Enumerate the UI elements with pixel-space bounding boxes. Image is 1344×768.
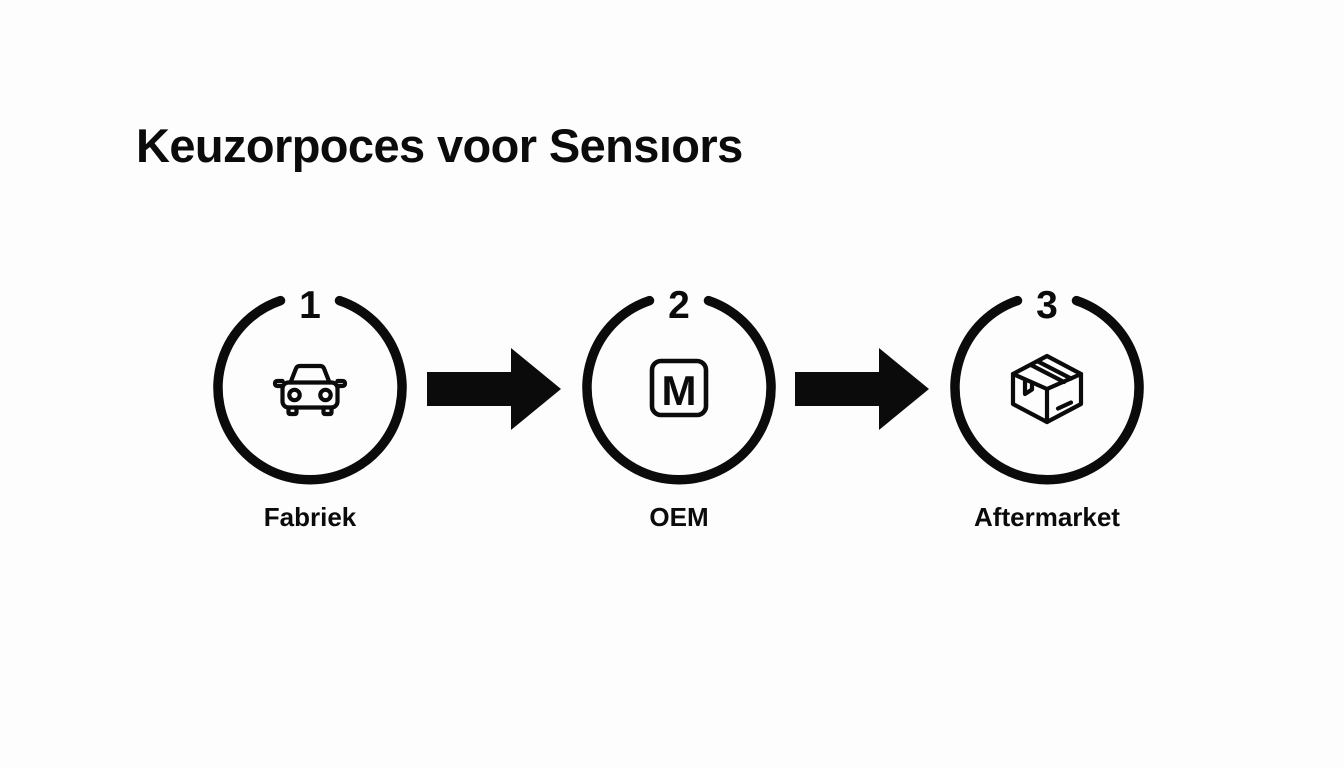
svg-text:M: M [662, 367, 697, 414]
step-number-2: 2 [668, 286, 690, 325]
package-box-icon [1001, 342, 1093, 434]
process-step-oem[interactable]: 2 M OEM [569, 282, 789, 572]
step-number-1: 1 [299, 286, 321, 325]
right-arrow-icon [427, 344, 561, 434]
step-ring-2: 2 M [581, 290, 777, 486]
step-label-3: Aftermarket [974, 504, 1120, 530]
car-front-icon [264, 342, 356, 434]
slide-canvas: Keuzorpoces voor Sensıors 1 [0, 0, 1344, 768]
step-label-2: OEM [649, 504, 708, 530]
process-flow-diagram: 1 [0, 282, 1344, 572]
m-badge-icon: M [633, 342, 725, 434]
process-step-fabriek[interactable]: 1 [200, 282, 420, 572]
step-ring-3: 3 [949, 290, 1145, 486]
process-step-aftermarket[interactable]: 3 [937, 282, 1157, 572]
right-arrow-icon [795, 344, 929, 434]
step-ring-1: 1 [212, 290, 408, 486]
page-title: Keuzorpoces voor Sensıors [136, 120, 743, 172]
step-label-1: Fabriek [264, 504, 357, 530]
step-number-3: 3 [1036, 286, 1058, 325]
